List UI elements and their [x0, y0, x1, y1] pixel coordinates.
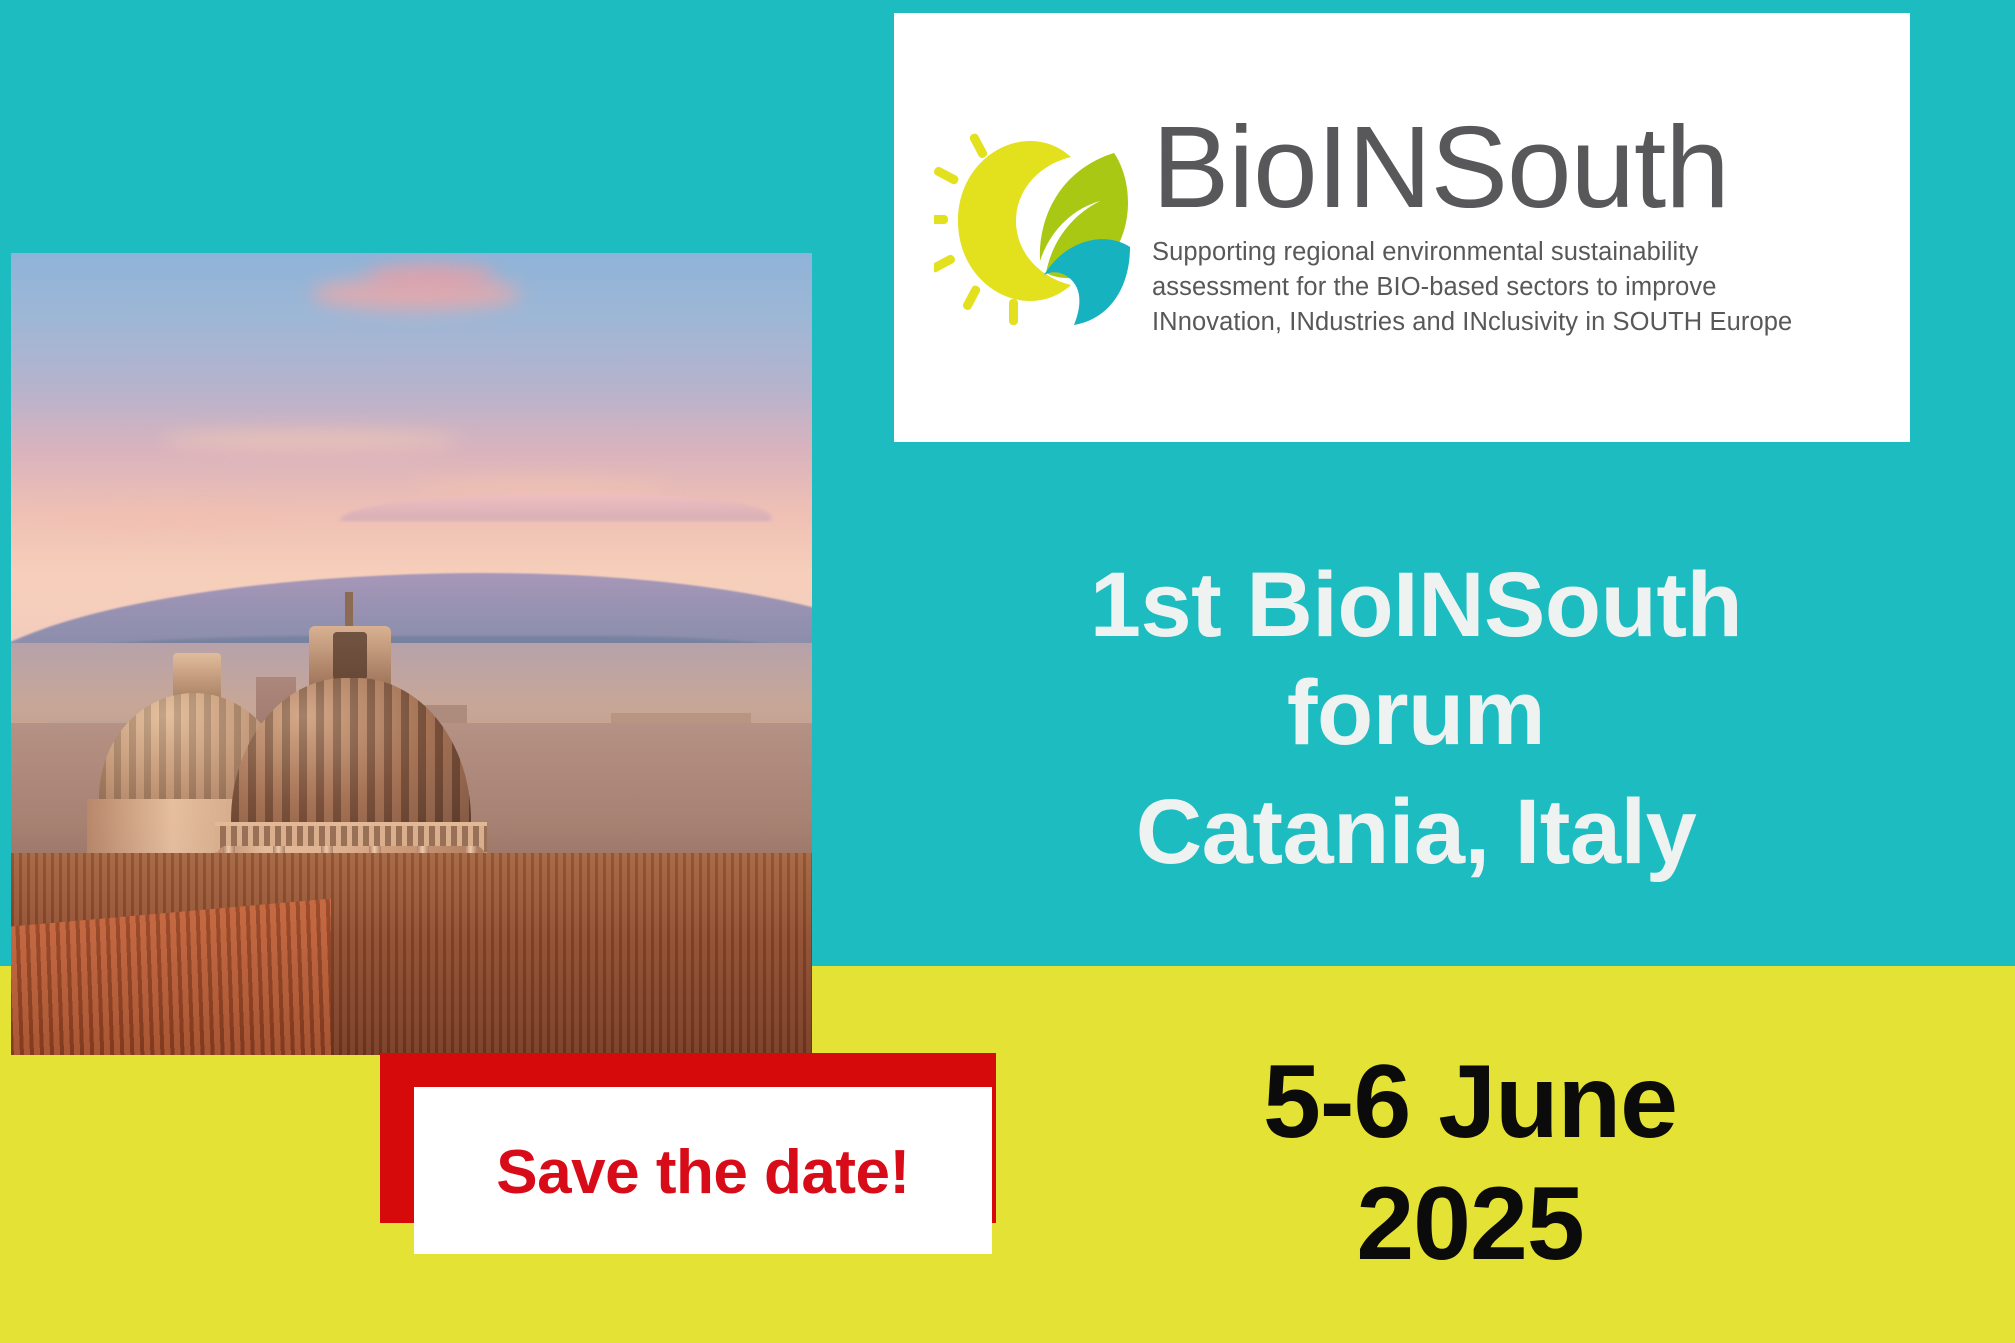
cloud — [161, 431, 461, 449]
catania-skyline-photo — [11, 253, 812, 1055]
logo-inner: BioINSouth Supporting regional environme… — [934, 109, 1852, 339]
event-date: 5-6 June 2025 — [1020, 1042, 1920, 1285]
logo-text-block: BioINSouth Supporting regional environme… — [1152, 109, 1852, 339]
logo-wordmark: BioINSouth — [1152, 109, 1852, 225]
save-the-date-badge: Save the date! — [380, 1053, 996, 1223]
event-date-year: 2025 — [1020, 1164, 1920, 1286]
cloud — [41, 511, 291, 525]
headline-location: Catania, Italy — [866, 779, 1966, 887]
poster-canvas: BioINSouth Supporting regional environme… — [0, 0, 2015, 1343]
event-date-days: 5-6 June — [1020, 1042, 1920, 1164]
logo-tagline: Supporting regional environmental sustai… — [1152, 235, 1852, 339]
tagline-line-2: assessment for the BIO-based sectors to … — [1152, 270, 1852, 305]
cloud — [366, 263, 496, 289]
logo-card: BioINSouth Supporting regional environme… — [894, 13, 1910, 442]
headline-line-2: forum — [866, 660, 1966, 768]
event-headline: 1st BioINSouth forum Catania, Italy — [866, 552, 1966, 887]
tagline-line-1: Supporting regional environmental sustai… — [1152, 235, 1852, 270]
badge-label: Save the date! — [496, 1137, 909, 1208]
tagline-line-3: INnovation, INdustries and INclusivity i… — [1152, 305, 1852, 340]
badge-white-panel: Save the date! — [414, 1087, 992, 1254]
foreground-tile-roof — [11, 899, 331, 1055]
dome-lantern — [309, 626, 391, 686]
bioinsouth-logo-mark — [934, 119, 1134, 329]
headline-line-1: 1st BioINSouth — [1090, 554, 1742, 656]
